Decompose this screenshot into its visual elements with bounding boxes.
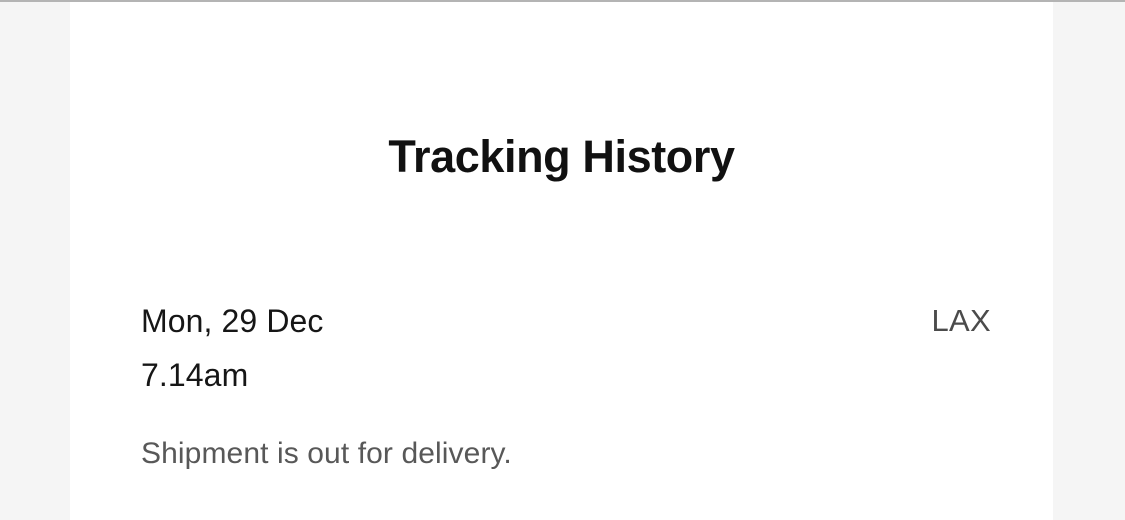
event-date: Mon, 29 Dec (141, 294, 324, 348)
top-divider-rule (0, 0, 1125, 2)
event-datetime-group: Mon, 29 Dec 7.14am (141, 294, 324, 402)
tracking-history-card: Tracking History Mon, 29 Dec 7.14am LAX … (70, 2, 1053, 520)
event-status-text: Shipment is out for delivery. (141, 432, 512, 476)
event-time: 7.14am (141, 348, 324, 402)
tracking-event-row: Mon, 29 Dec 7.14am LAX (141, 294, 991, 402)
page-title: Tracking History (70, 129, 1053, 185)
event-location-code: LAX (932, 294, 992, 348)
